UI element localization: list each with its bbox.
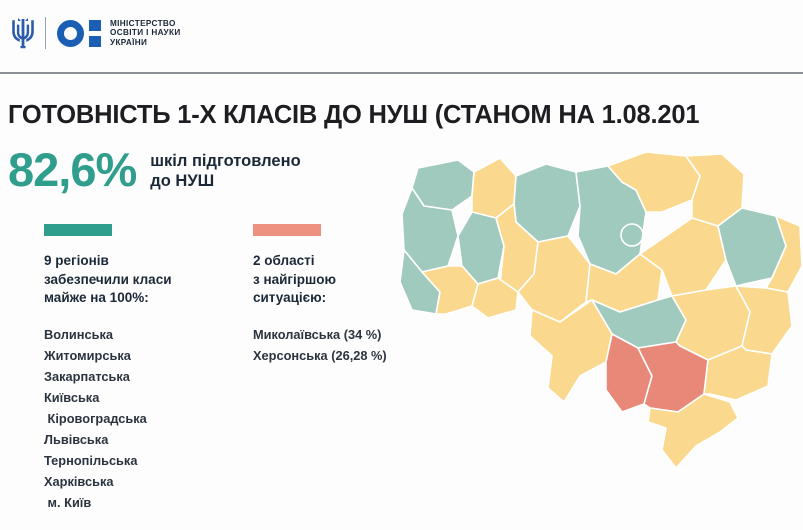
- page-title: ГОТОВНІСТЬ 1-Х КЛАСІВ ДО НУШ (СТАНОМ НА …: [8, 101, 699, 130]
- region-list-good: Волинська Житомирська Закарпатська Київс…: [44, 324, 244, 513]
- legend-heading-good: 9 регіонів забезпечили класи майже на 10…: [44, 252, 244, 308]
- ministry-line-2: ОСВІТИ І НАУКИ: [110, 28, 181, 38]
- legend-swatch-good: [44, 224, 112, 236]
- stat-caption-line-1: шкіл підготовлено: [150, 151, 300, 171]
- list-item: Тернопільська: [44, 450, 244, 471]
- list-item: Закарпатська: [44, 366, 244, 387]
- ukraine-regions-map: [400, 150, 803, 530]
- ministry-line-3: УКРАЇНИ: [110, 38, 181, 48]
- list-item: Львівська: [44, 429, 244, 450]
- list-item: м. Київ: [44, 492, 244, 513]
- page-header: МІНІСТЕРСТВО ОСВІТИ І НАУКИ УКРАЇНИ: [0, 0, 803, 74]
- stat-caption: шкіл підготовлено до НУШ: [150, 151, 300, 191]
- legend-heading-good-line-2: забезпечили класи: [44, 271, 244, 290]
- map-region-Одеська[interactable]: [530, 300, 612, 402]
- logo-divider: [45, 17, 46, 49]
- stat-percent-value: 82,6%: [8, 146, 136, 194]
- stat-caption-line-2: до НУШ: [150, 171, 300, 191]
- list-item: Кіровоградська: [44, 408, 244, 429]
- list-item: Волинська: [44, 324, 244, 345]
- ministry-logo-lockup: МІНІСТЕРСТВО ОСВІТИ І НАУКИ УКРАЇНИ: [10, 16, 181, 50]
- mon-ring-icon: [57, 20, 84, 47]
- mon-ring-squares-icon: [57, 20, 101, 47]
- legend-group-good: 9 регіонів забезпечили класи майже на 10…: [44, 224, 244, 513]
- legend-heading-good-line-3: майже на 100%:: [44, 289, 244, 308]
- list-item: Київська: [44, 387, 244, 408]
- headline-statistic: 82,6% шкіл підготовлено до НУШ: [8, 146, 301, 194]
- ministry-name: МІНІСТЕРСТВО ОСВІТИ І НАУКИ УКРАЇНИ: [110, 19, 181, 48]
- map-svg: [400, 150, 803, 530]
- legend-heading-good-line-1: 9 регіонів: [44, 252, 244, 271]
- legend-swatch-bad: [253, 224, 321, 236]
- infographic-page: МІНІСТЕРСТВО ОСВІТИ І НАУКИ УКРАЇНИ ГОТО…: [0, 0, 803, 530]
- list-item: Житомирська: [44, 345, 244, 366]
- mon-squares-icon: [89, 20, 101, 47]
- header-divider: [0, 72, 803, 74]
- ministry-line-1: МІНІСТЕРСТВО: [110, 19, 181, 29]
- list-item: Харківська: [44, 471, 244, 492]
- ukraine-trident-icon: [10, 16, 36, 50]
